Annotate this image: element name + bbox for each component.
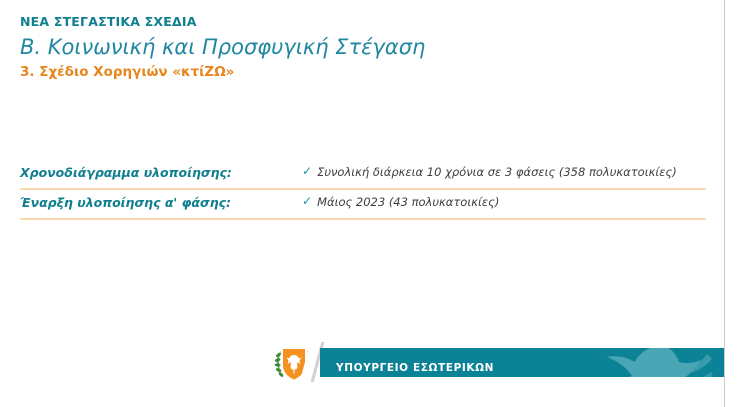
slide-main-title: Β. Κοινωνική και Προσφυγική Στέγαση (20, 33, 700, 61)
slide-canvas: ΝΕΑ ΣΤΕΓΑΣΤΙΚΑ ΣΧΕΔΙΑ Β. Κοινωνική και Π… (0, 0, 725, 407)
table-row: Έναρξη υλοποίησης α' φάσης: ✓ Μάιος 2023… (20, 190, 706, 220)
ministry-name-label: ΥΠΟΥΡΓΕΙΟ ΕΣΩΤΕΡΙΚΩΝ (336, 362, 494, 374)
detail-rows: Χρονοδιάγραμμα υλοποίησης: ✓ Συνολική δι… (20, 160, 706, 220)
row-value-text: Συνολική διάρκεια 10 χρόνια σε 3 φάσεις … (317, 164, 677, 180)
table-row: Χρονοδιάγραμμα υλοποίησης: ✓ Συνολική δι… (20, 160, 706, 190)
slide-heading-block: ΝΕΑ ΣΤΕΓΑΣΤΙΚΑ ΣΧΕΔΙΑ Β. Κοινωνική και Π… (20, 13, 700, 82)
row-label-timeline: Χρονοδιάγραμμα υλοποίησης: (20, 160, 302, 181)
row-value-timeline: ✓ Συνολική διάρκεια 10 χρόνια σε 3 φάσει… (302, 160, 706, 180)
ministry-band: ΥΠΟΥΡΓΕΙΟ ΕΣΩΤΕΡΙΚΩΝ (320, 348, 725, 377)
dove-watermark-icon (591, 348, 725, 377)
row-value-phase-start: ✓ Μάιος 2023 (43 πολυκατοικίες) (302, 190, 706, 210)
slide-kicker-title: ΝΕΑ ΣΤΕΓΑΣΤΙΚΑ ΣΧΕΔΙΑ (20, 13, 700, 30)
slide-subtitle: 3. Σχέδιο Χορηγιών «κτίΖΩ» (20, 63, 700, 82)
check-icon: ✓ (302, 164, 312, 179)
slide-footer: ΥΠΟΥΡΓΕΙΟ ΕΣΩΤΕΡΙΚΩΝ (0, 327, 725, 407)
row-label-phase-start: Έναρξη υλοποίησης α' φάσης: (20, 190, 302, 211)
check-icon: ✓ (302, 194, 312, 209)
row-value-text: Μάιος 2023 (43 πολυκατοικίες) (317, 194, 499, 210)
